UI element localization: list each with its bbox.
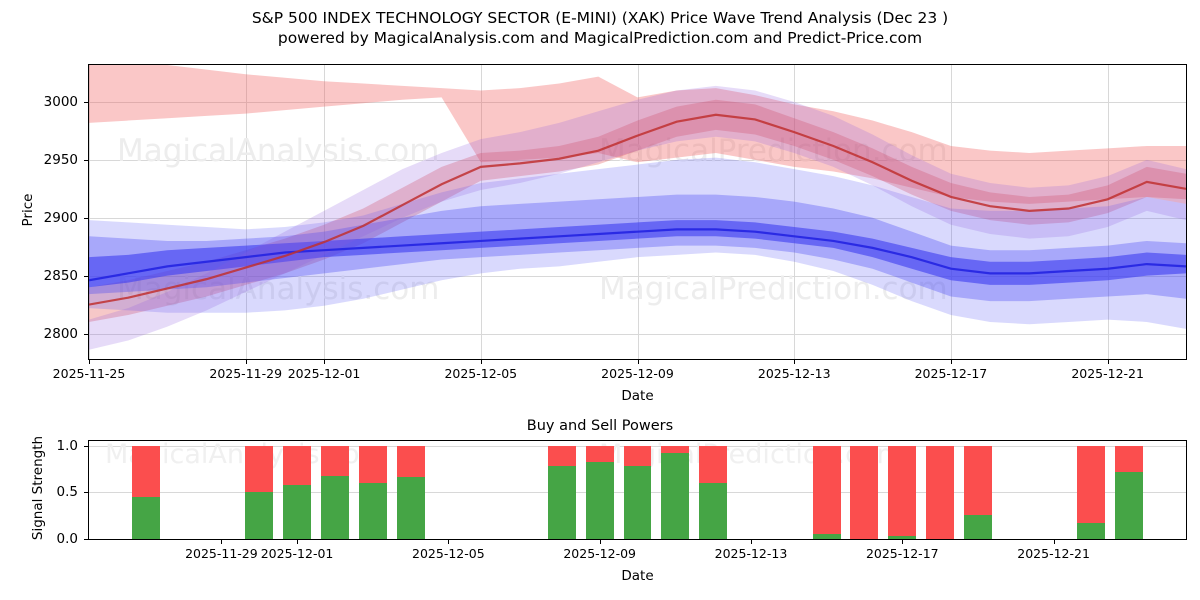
price-x-tick-label: 2025-12-13 xyxy=(758,366,831,381)
sell-power-segment xyxy=(813,446,841,535)
signal-strength-bar xyxy=(321,446,349,539)
sell-power-segment xyxy=(624,446,652,467)
sell-power-segment xyxy=(1077,446,1105,523)
price-y-tick-label: 2950 xyxy=(0,152,78,168)
signal-strength-bar xyxy=(661,446,689,539)
signal-x-tick-mark xyxy=(751,540,752,544)
buy-power-segment xyxy=(964,515,992,539)
price-x-tick-mark xyxy=(951,360,952,364)
signal-strength-bar xyxy=(132,446,160,539)
price-x-tick-mark xyxy=(794,360,795,364)
signal-x-tick-mark xyxy=(448,540,449,544)
sell-power-segment xyxy=(661,446,689,453)
buy-power-segment xyxy=(548,466,576,539)
signal-strength-bar xyxy=(699,446,727,539)
page-title: S&P 500 INDEX TECHNOLOGY SECTOR (E-MINI)… xyxy=(0,8,1200,28)
sell-power-segment xyxy=(359,446,387,483)
signal-strength-bar xyxy=(397,446,425,539)
signal-x-tick-mark xyxy=(600,540,601,544)
sell-power-segment xyxy=(245,446,273,493)
signal-x-tick-label: 2025-12-09 xyxy=(563,546,636,561)
signal-x-tick-mark xyxy=(297,540,298,544)
buy-power-segment xyxy=(699,483,727,539)
price-y-tick-label: 2850 xyxy=(0,268,78,284)
sell-power-segment xyxy=(964,446,992,515)
buy-power-segment xyxy=(888,536,916,539)
buy-sell-powers-inner: MagicalAnalysis.comMagicalPrediction.com xyxy=(89,441,1186,539)
buy-power-segment xyxy=(359,483,387,539)
price-x-tick-mark xyxy=(246,360,247,364)
signal-y-tick-mark xyxy=(84,539,88,540)
price-x-tick-mark xyxy=(481,360,482,364)
price-x-tick-label: 2025-12-05 xyxy=(444,366,517,381)
sell-power-segment xyxy=(397,446,425,478)
signal-strength-bar xyxy=(964,446,992,539)
signal-x-tick-label: 2025-12-17 xyxy=(866,546,939,561)
sell-power-segment xyxy=(283,446,311,485)
sell-power-segment xyxy=(1115,446,1143,472)
signal-strength-bar xyxy=(245,446,273,539)
sell-power-segment xyxy=(888,446,916,537)
price-x-tick-mark xyxy=(89,360,90,364)
signal-strength-bar xyxy=(888,446,916,539)
signal-strength-bar xyxy=(850,446,878,539)
signal-strength-axis-label: Signal Strength xyxy=(30,428,46,548)
chart-title-block: S&P 500 INDEX TECHNOLOGY SECTOR (E-MINI)… xyxy=(0,8,1200,49)
signal-x-tick-label: 2025-12-01 xyxy=(261,546,334,561)
price-y-tick-label: 2900 xyxy=(0,210,78,226)
sell-power-segment xyxy=(699,446,727,483)
sell-power-segment xyxy=(926,446,954,539)
price-y-tick-mark xyxy=(84,334,88,335)
page-subtitle: powered by MagicalAnalysis.com and Magic… xyxy=(0,28,1200,49)
signal-x-tick-label: 2025-12-21 xyxy=(1017,546,1090,561)
signal-x-tick-label: 2025-12-05 xyxy=(412,546,485,561)
price-x-tick-label: 2025-11-29 xyxy=(209,366,282,381)
buy-power-segment xyxy=(321,476,349,539)
price-x-tick-label: 2025-11-25 xyxy=(53,366,126,381)
price-x-tick-mark xyxy=(1108,360,1109,364)
signal-y-tick-mark xyxy=(84,446,88,447)
buy-power-segment xyxy=(283,485,311,539)
price-axis-label: Price xyxy=(20,190,36,230)
price-x-tick-label: 2025-12-21 xyxy=(1071,366,1144,381)
signal-strength-bar xyxy=(1115,446,1143,539)
signal-strength-bar xyxy=(359,446,387,539)
price-date-axis-label: Date xyxy=(621,388,653,404)
buy-power-segment xyxy=(397,477,425,539)
sell-power-segment xyxy=(850,446,878,539)
price-y-tick-mark xyxy=(84,218,88,219)
signal-strength-bar xyxy=(926,446,954,539)
price-x-tick-label: 2025-12-09 xyxy=(601,366,674,381)
signal-x-tick-label: 2025-11-29 xyxy=(185,546,258,561)
sell-power-segment xyxy=(586,446,614,462)
signal-strength-bar xyxy=(586,446,614,539)
buy-power-segment xyxy=(586,462,614,539)
signal-x-tick-mark xyxy=(1054,540,1055,544)
price-y-tick-mark xyxy=(84,160,88,161)
price-y-tick-label: 2800 xyxy=(0,326,78,342)
price-x-tick-label: 2025-12-01 xyxy=(288,366,361,381)
signal-gridline-horizontal xyxy=(89,539,1186,540)
signal-strength-bar xyxy=(283,446,311,539)
signal-x-tick-label: 2025-12-13 xyxy=(715,546,788,561)
signal-strength-bar xyxy=(548,446,576,539)
buy-power-segment xyxy=(813,534,841,539)
signal-x-tick-mark xyxy=(221,540,222,544)
price-y-tick-mark xyxy=(84,102,88,103)
buy-power-segment xyxy=(1077,523,1105,539)
buy-power-segment xyxy=(245,492,273,539)
price-y-tick-mark xyxy=(84,276,88,277)
buy-power-segment xyxy=(661,453,689,539)
signal-date-axis-label: Date xyxy=(621,568,653,584)
price-y-tick-label: 3000 xyxy=(0,94,78,110)
signal-strength-bar xyxy=(1077,446,1105,539)
signal-strength-bar xyxy=(624,446,652,539)
price-wave-chart-plot-area: MagicalAnalysis.comMagicalPrediction.com… xyxy=(88,64,1187,360)
price-chart-inner: MagicalAnalysis.comMagicalPrediction.com… xyxy=(89,65,1186,359)
signal-y-tick-mark xyxy=(84,492,88,493)
wave-band-layer xyxy=(89,65,1186,359)
price-x-tick-mark xyxy=(324,360,325,364)
price-x-tick-label: 2025-12-17 xyxy=(915,366,988,381)
sell-power-segment xyxy=(548,446,576,467)
buy-power-segment xyxy=(132,497,160,539)
buy-sell-powers-title: Buy and Sell Powers xyxy=(0,418,1200,434)
signal-strength-bar xyxy=(813,446,841,539)
sell-power-segment xyxy=(132,446,160,497)
buy-power-segment xyxy=(1115,472,1143,539)
signal-x-tick-mark xyxy=(902,540,903,544)
sell-power-segment xyxy=(321,446,349,477)
buy-sell-powers-plot-area: MagicalAnalysis.comMagicalPrediction.com xyxy=(88,440,1187,540)
price-x-tick-mark xyxy=(638,360,639,364)
buy-power-segment xyxy=(624,466,652,539)
